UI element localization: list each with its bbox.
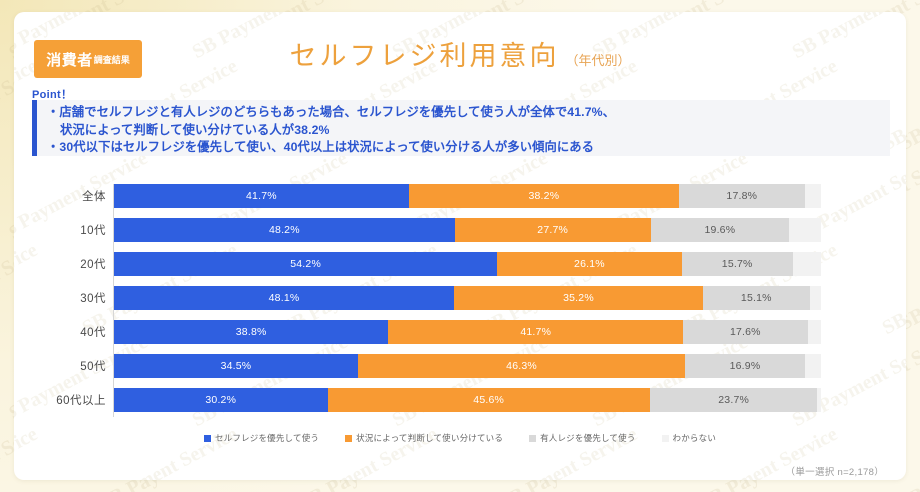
chart-segment: 15.1% <box>703 286 810 310</box>
legend-item[interactable]: わからない <box>662 432 717 444</box>
chart-segment <box>805 184 821 208</box>
chart-segment: 17.6% <box>683 320 807 344</box>
chart-row: 30代48.1%35.2%15.1% <box>14 284 906 312</box>
chart-segment: 23.7% <box>650 388 818 412</box>
legend-item[interactable]: 有人レジを優先して使う <box>529 432 635 444</box>
chart-row-label: 20代 <box>14 250 106 278</box>
chart-row: 40代38.8%41.7%17.6% <box>14 318 906 346</box>
legend-label: 状況によって判断して使い分けている <box>356 432 503 444</box>
chart-row-track: 38.8%41.7%17.6% <box>114 320 821 344</box>
chart-segment <box>817 388 821 412</box>
chart-segment <box>789 218 821 242</box>
point-line-2: 状況によって判断して使い分けている人が38.2% <box>47 122 330 140</box>
chart-row-track: 48.2%27.7%19.6% <box>114 218 821 242</box>
chart-segment: 41.7% <box>114 184 409 208</box>
point-line-3: ・30代以下はセルフレジを優先して使い、40代以上は状況によって使い分ける人が多… <box>47 139 890 157</box>
chart-segment: 38.8% <box>114 320 388 344</box>
chart-segment <box>808 320 821 344</box>
chart-segment: 34.5% <box>114 354 358 378</box>
chart-row-track: 54.2%26.1%15.7% <box>114 252 821 276</box>
chart-segment: 54.2% <box>114 252 497 276</box>
chart-segment: 38.2% <box>409 184 679 208</box>
legend-swatch-icon <box>662 435 669 442</box>
chart-row: 50代34.5%46.3%16.9% <box>14 352 906 380</box>
legend-label: わからない <box>673 432 717 444</box>
chart-segment: 19.6% <box>651 218 790 242</box>
legend-swatch-icon <box>345 435 352 442</box>
chart-row-track: 41.7%38.2%17.8% <box>114 184 821 208</box>
chart-segment: 30.2% <box>114 388 328 412</box>
slide-root: SB Payment ServiceSB Payment ServiceSB P… <box>0 0 920 492</box>
stacked-bar-chart: 全体41.7%38.2%17.8%10代48.2%27.7%19.6%20代54… <box>14 180 906 430</box>
chart-segment: 27.7% <box>455 218 651 242</box>
chart-row-track: 48.1%35.2%15.1% <box>114 286 821 310</box>
chart-row-label: 30代 <box>14 284 106 312</box>
chart-segment <box>805 354 821 378</box>
chart-segment: 26.1% <box>497 252 682 276</box>
legend-swatch-icon <box>529 435 536 442</box>
chart-segment <box>793 252 821 276</box>
content-card: SB Payment ServiceSB Payment ServiceSB P… <box>14 12 906 480</box>
chart-segment: 45.6% <box>328 388 650 412</box>
legend-item[interactable]: セルフレジを優先して使う <box>204 432 319 444</box>
chart-row-label: 60代以上 <box>14 386 106 414</box>
chart-row: 20代54.2%26.1%15.7% <box>14 250 906 278</box>
chart-row-label: 10代 <box>14 216 106 244</box>
point-box: ・店舗でセルフレジと有人レジのどちらもあった場合、セルフレジを優先して使う人が全… <box>32 100 890 156</box>
page-title-sub: （年代別） <box>565 50 630 69</box>
legend-item[interactable]: 状況によって判断して使い分けている <box>345 432 503 444</box>
chart-row-label: 50代 <box>14 352 106 380</box>
chart-segment: 16.9% <box>685 354 804 378</box>
chart-segment: 17.8% <box>679 184 805 208</box>
chart-segment: 35.2% <box>454 286 703 310</box>
chart-segment: 15.7% <box>682 252 793 276</box>
point-line-1: ・店舗でセルフレジと有人レジのどちらもあった場合、セルフレジを優先して使う人が全… <box>47 104 890 122</box>
chart-row-track: 30.2%45.6%23.7% <box>114 388 821 412</box>
chart-legend: セルフレジを優先して使う状況によって判断して使い分けている有人レジを優先して使う… <box>14 432 906 444</box>
chart-segment: 46.3% <box>358 354 685 378</box>
chart-segment: 48.2% <box>114 218 455 242</box>
chart-row-track: 34.5%46.3%16.9% <box>114 354 821 378</box>
chart-segment: 41.7% <box>388 320 683 344</box>
chart-row: 10代48.2%27.7%19.6% <box>14 216 906 244</box>
page-title-main: セルフレジ利用意向 <box>289 34 559 73</box>
chart-row-label: 全体 <box>14 182 106 210</box>
page-title: セルフレジ利用意向 （年代別） <box>14 34 906 73</box>
chart-footnote: （単一選択 n=2,178） <box>786 464 884 478</box>
chart-segment: 48.1% <box>114 286 454 310</box>
chart-row: 全体41.7%38.2%17.8% <box>14 182 906 210</box>
chart-row: 60代以上30.2%45.6%23.7% <box>14 386 906 414</box>
legend-label: 有人レジを優先して使う <box>540 432 635 444</box>
legend-label: セルフレジを優先して使う <box>215 432 319 444</box>
chart-segment <box>810 286 821 310</box>
chart-row-label: 40代 <box>14 318 106 346</box>
legend-swatch-icon <box>204 435 211 442</box>
